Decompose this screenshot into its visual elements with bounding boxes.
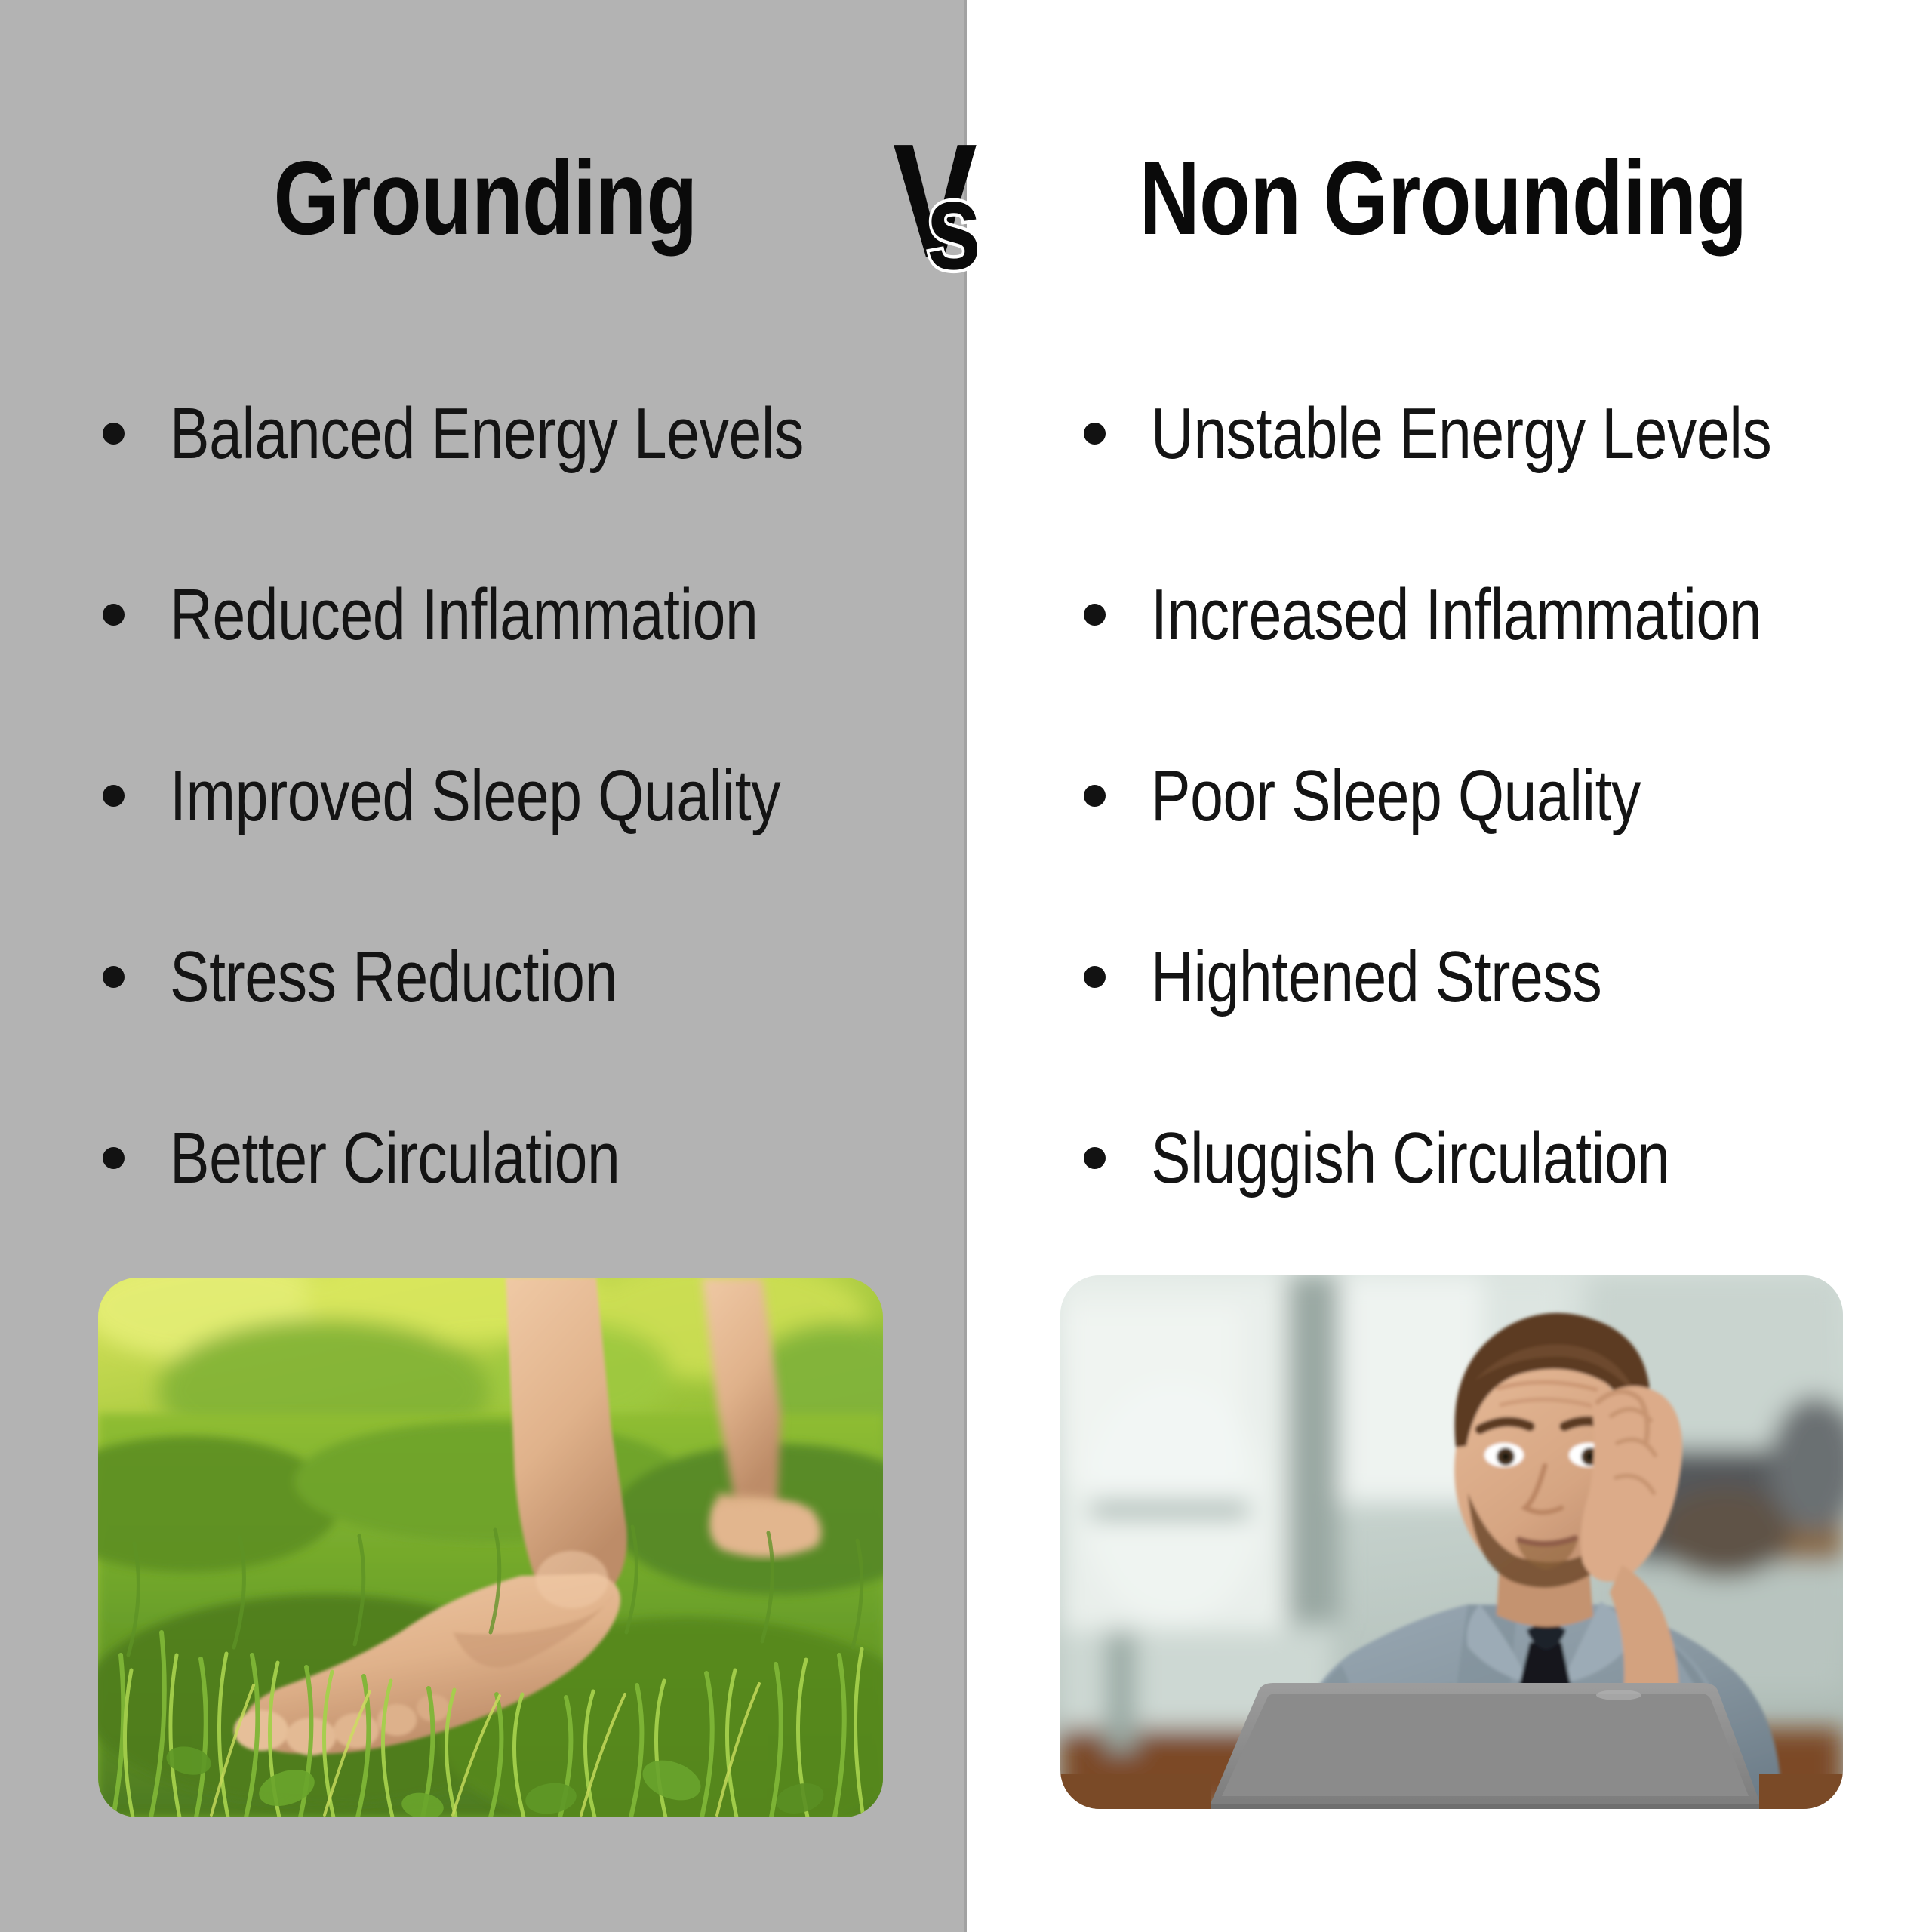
list-item-label: Improved Sleep Quality: [170, 760, 780, 832]
bullet-dot-icon: [103, 604, 125, 626]
list-item-label: Sluggish Circulation: [1151, 1122, 1670, 1195]
list-item-label: Balanced Energy Levels: [170, 398, 804, 470]
vs-badge: V s: [872, 121, 1045, 279]
bullet-dot-icon: [1084, 604, 1106, 626]
list-item: Poor Sleep Quality: [1072, 740, 1932, 853]
grounding-title: Grounding: [99, 132, 872, 264]
bullet-dot-icon: [103, 966, 125, 988]
comparison-infographic: Grounding Non Grounding V s Balanced Ene…: [0, 0, 1932, 1932]
bullet-dot-icon: [1084, 966, 1106, 988]
list-item: Unstable Energy Levels: [1072, 377, 1932, 491]
list-item-label: Stress Reduction: [170, 941, 617, 1014]
vs-letter-s: s: [926, 156, 981, 279]
non-grounding-drawback-list: Unstable Energy Levels Increased Inflamm…: [1072, 377, 1932, 1283]
list-item-label: Hightened Stress: [1151, 941, 1601, 1014]
list-item: Better Circulation: [91, 1102, 966, 1215]
list-item-label: Better Circulation: [170, 1122, 620, 1195]
list-item-label: Reduced Inflammation: [170, 579, 758, 651]
bullet-dot-icon: [1084, 423, 1106, 445]
bullet-dot-icon: [1084, 1147, 1106, 1169]
list-item-label: Poor Sleep Quality: [1151, 760, 1641, 832]
grounding-benefit-list: Balanced Energy Levels Reduced Inflammat…: [91, 377, 966, 1283]
svg-text:s: s: [926, 156, 981, 279]
list-item: Improved Sleep Quality: [91, 740, 966, 853]
list-item: Increased Inflammation: [1072, 558, 1932, 672]
bullet-dot-icon: [1084, 785, 1106, 807]
bullet-dot-icon: [103, 1147, 125, 1169]
list-item-label: Unstable Energy Levels: [1151, 398, 1771, 470]
list-item-label: Increased Inflammation: [1151, 579, 1761, 651]
list-item: Reduced Inflammation: [91, 558, 966, 672]
list-item: Sluggish Circulation: [1072, 1102, 1932, 1215]
bare-feet-on-grass-photo: [98, 1278, 883, 1817]
list-item: Balanced Energy Levels: [91, 377, 966, 491]
list-item: Stress Reduction: [91, 921, 966, 1034]
non-grounding-title: Non Grounding: [1057, 132, 1829, 264]
stressed-man-at-laptop-photo: [1060, 1275, 1843, 1809]
list-item: Hightened Stress: [1072, 921, 1932, 1034]
bullet-dot-icon: [103, 423, 125, 445]
bullet-dot-icon: [103, 785, 125, 807]
